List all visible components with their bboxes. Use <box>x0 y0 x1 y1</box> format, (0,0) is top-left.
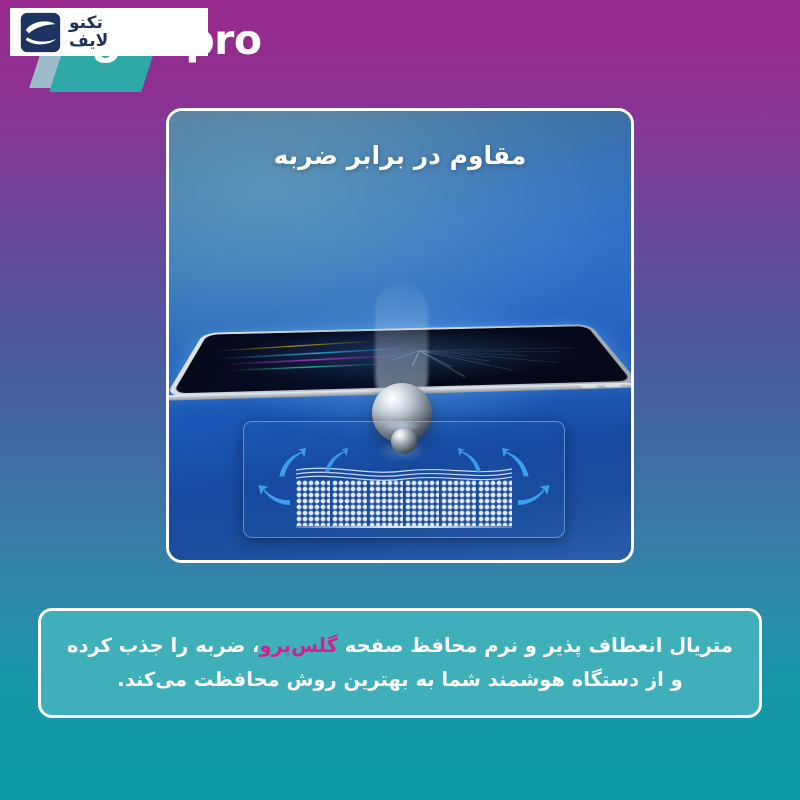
molecule-column <box>405 480 439 526</box>
diagram-base-line <box>296 526 512 528</box>
promo-banner: گلسpro تکنو لایف مقاوم در برابر ضربه <box>0 0 800 800</box>
energy-dispersion-arrow <box>500 448 534 478</box>
energy-dispersion-arrow <box>274 448 308 478</box>
caption-highlight-brand: گلس‌پرو <box>260 634 338 657</box>
shock-absorption-diagram <box>243 421 565 538</box>
diagram-impact-ball <box>391 428 417 454</box>
molecule-column <box>478 480 512 526</box>
technolife-swoosh-icon <box>20 12 61 53</box>
logo-line-2: لایف <box>69 33 108 50</box>
caption-part-1: متریال انعطاف پذیر و نرم محافظ صفحه <box>338 634 733 657</box>
energy-dispersion-arrow <box>514 480 552 510</box>
energy-dispersion-arrow <box>256 480 294 510</box>
logo-line-1: تکنو <box>69 15 103 32</box>
technolife-logo-text: تکنو لایف <box>69 15 108 50</box>
tablet-volume-button-up <box>605 385 623 388</box>
energy-dispersion-arrow <box>456 448 486 474</box>
diagram-molecule-columns <box>296 480 512 526</box>
molecule-column <box>296 480 330 526</box>
card-headline: مقاوم در برابر ضربه <box>169 141 631 170</box>
energy-dispersion-arrow <box>320 448 350 474</box>
molecule-column <box>441 480 475 526</box>
molecule-column <box>332 480 366 526</box>
caption-box: متریال انعطاف پذیر و نرم محافظ صفحه گلس‌… <box>38 608 762 718</box>
molecule-column <box>369 480 403 526</box>
caption-text: متریال انعطاف پذیر و نرم محافظ صفحه گلس‌… <box>67 629 733 697</box>
product-image-card: مقاوم در برابر ضربه <box>166 108 634 563</box>
technolife-logo[interactable]: تکنو لایف <box>10 8 208 56</box>
